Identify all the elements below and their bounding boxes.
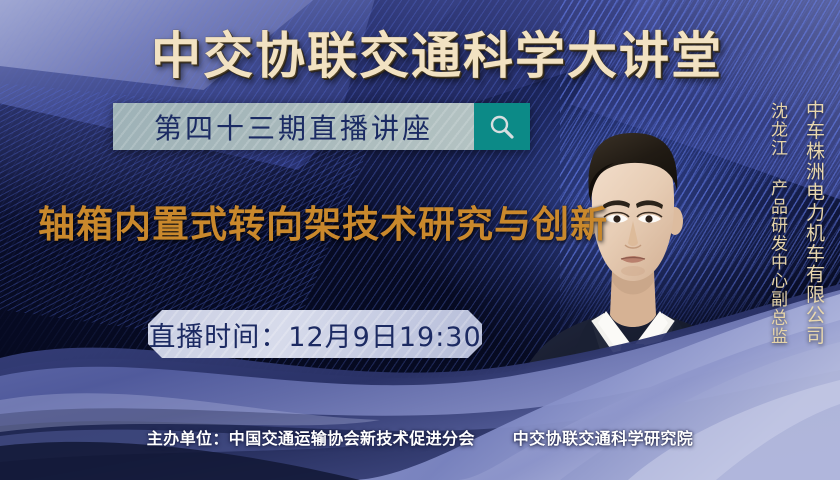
footer-organizer-secondary: 中交协联交通科学研究院 (513, 429, 693, 448)
footer-organizers: 主办单位：中国交通运输协会新技术促进分会 中交协联交通科学研究院 (0, 425, 840, 449)
speaker-portrait (518, 95, 748, 435)
live-time-label: 直播时间：12月9日19:30 (148, 315, 481, 354)
episode-label: 第四十三期直播讲座 (113, 103, 474, 150)
speaker-company: 中车株洲电力机车有限公司 (801, 100, 828, 346)
speaker-name-and-role: 沈龙江 产品研发中心副总监 (765, 102, 790, 346)
lecture-title: 轴箱内置式转向架技术研究与创新 (38, 194, 608, 248)
live-time-badge: 直播时间：12月9日19:30 (148, 310, 482, 358)
live-lecture-poster: 中交协联交通科学大讲堂 第四十三期直播讲座 轴箱内置式转向架技术研究与创新 直播… (0, 0, 840, 480)
poster-main-title: 中交协联交通科学大讲堂 (0, 16, 840, 88)
search-icon[interactable] (474, 103, 530, 150)
footer-organizer-primary: 主办单位：中国交通运输协会新技术促进分会 (147, 429, 475, 448)
episode-banner: 第四十三期直播讲座 (113, 103, 530, 150)
